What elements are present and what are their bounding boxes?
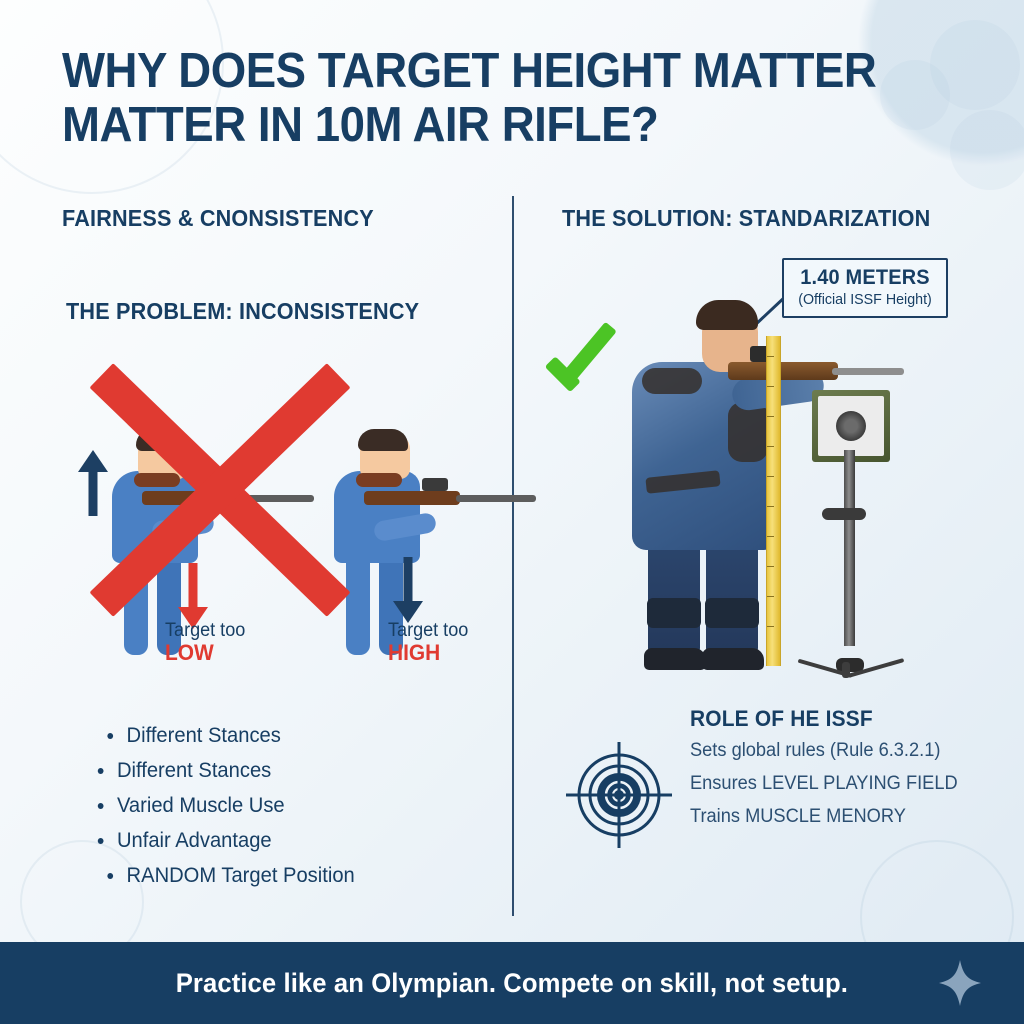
caption-target-too-high: Target too HIGH — [388, 620, 473, 666]
crosshair-target-icon — [566, 742, 672, 848]
caption-line1: Target too — [388, 620, 468, 641]
solution-illustration: 1.40 METERS (Official ISSF Height) — [520, 240, 1020, 700]
target-stand — [792, 390, 912, 680]
sparkle-icon — [938, 959, 982, 1007]
list-item: Different Stances — [92, 718, 476, 753]
red-x-icon — [70, 345, 370, 635]
issf-role-block: ROLE OF HE ISSF Sets global rules (Rule … — [690, 706, 990, 831]
list-item: RANDOM Target Position — [92, 858, 476, 893]
watermark-circle — [950, 110, 1024, 190]
role-line: Trains MUSCLE MENORY — [690, 802, 978, 831]
air-rifle — [728, 362, 898, 380]
stand-pole — [844, 450, 855, 646]
role-heading: ROLE OF HE ISSF — [690, 706, 975, 732]
role-line: Sets global rules (Rule 6.3.2.1) — [690, 736, 978, 765]
shooter-shoe — [644, 648, 706, 670]
list-item: Varied Muscle Use — [92, 788, 476, 823]
rifle-icon — [364, 491, 534, 505]
caption-target-too-low: Target too LOW — [165, 620, 250, 666]
watermark-circle — [880, 60, 950, 130]
shooter-shoe — [702, 648, 764, 670]
list-item: Different Stances — [92, 753, 476, 788]
caption-line2: HIGH — [388, 641, 468, 666]
problem-illustration — [60, 345, 500, 655]
shooter-photo — [610, 270, 820, 670]
problem-bullet-list: Different Stances Different Stances Vari… — [92, 718, 492, 893]
column-divider — [512, 196, 514, 916]
caption-line1: Target too — [165, 620, 245, 641]
list-item: Unfair Advantage — [92, 823, 476, 858]
caption-line2: LOW — [165, 641, 245, 666]
footer-banner: Practice like an Olympian. Compete on sk… — [0, 942, 1024, 1024]
arrow-down-navy-icon — [393, 557, 423, 623]
infographic-page: WHY DOES TARGET HEIGHT MATTER MATTER IN … — [0, 0, 1024, 1024]
left-sub-heading: THE PROBLEM: INCONSISTENCY — [66, 298, 419, 325]
left-section-heading: FAIRNESS & CNONSISTENCY — [62, 205, 374, 232]
watermark-circle — [930, 20, 1020, 110]
footer-tagline: Practice like an Olympian. Compete on sk… — [176, 968, 848, 999]
role-line: Ensures LEVEL PLAYING FIELD — [690, 769, 978, 798]
tape-measure-icon — [766, 336, 781, 666]
page-title: WHY DOES TARGET HEIGHT MATTER MATTER IN … — [62, 44, 880, 152]
shooter-hair — [696, 300, 758, 330]
right-section-heading: THE SOLUTION: STANDARIZATION — [562, 205, 930, 232]
stand-adjuster — [822, 508, 866, 520]
